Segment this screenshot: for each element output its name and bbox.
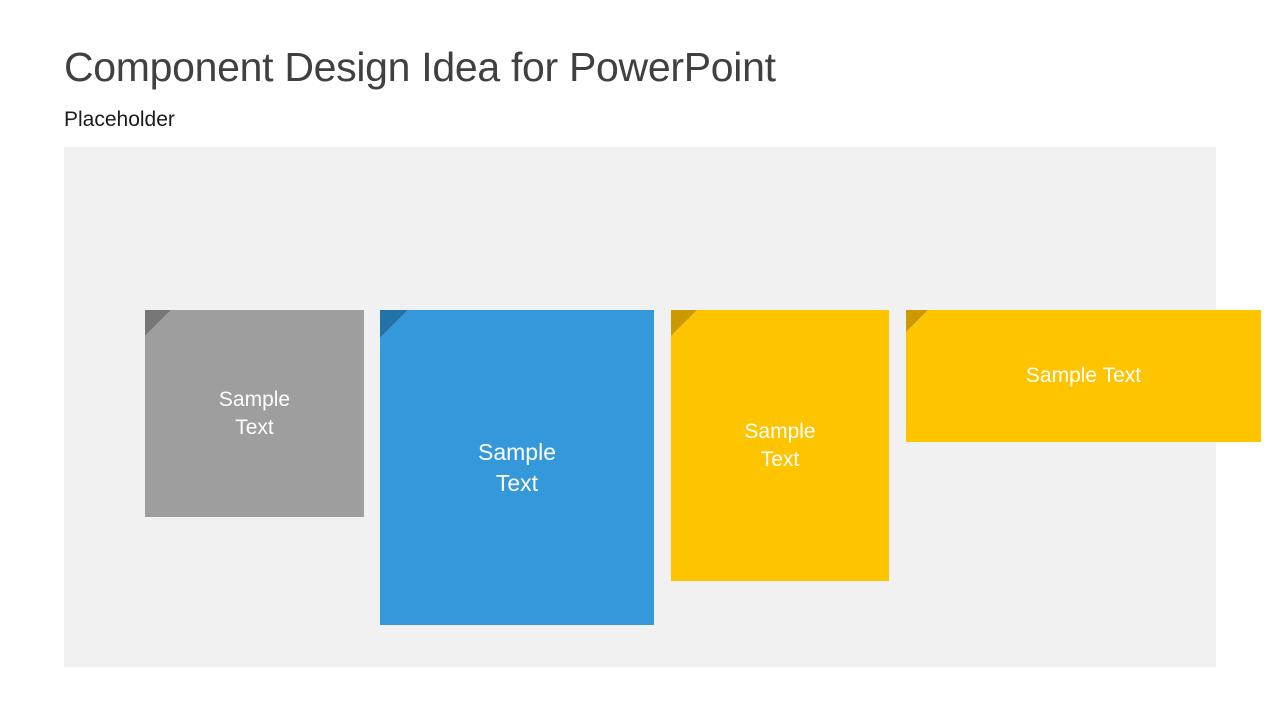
- card-body: [671, 310, 889, 581]
- folded-card-blue[interactable]: Sample Text: [380, 310, 654, 625]
- content-panel: Sample Text Sample Text Sample Text Samp…: [64, 147, 1216, 667]
- folded-corner-icon: [906, 310, 928, 332]
- card-body: [906, 310, 1261, 442]
- page-title: Component Design Idea for PowerPoint: [64, 40, 776, 94]
- folded-corner-icon: [145, 310, 171, 336]
- folded-card-yellow-wide[interactable]: Sample Text: [906, 310, 1261, 442]
- folded-card-grey[interactable]: Sample Text: [145, 310, 364, 517]
- card-body: [145, 310, 364, 517]
- folded-card-yellow-tall[interactable]: Sample Text: [671, 310, 889, 581]
- folded-corner-icon: [671, 310, 697, 336]
- folded-corner-icon: [380, 310, 408, 338]
- card-body: [380, 310, 654, 625]
- page-subtitle: Placeholder: [64, 106, 175, 134]
